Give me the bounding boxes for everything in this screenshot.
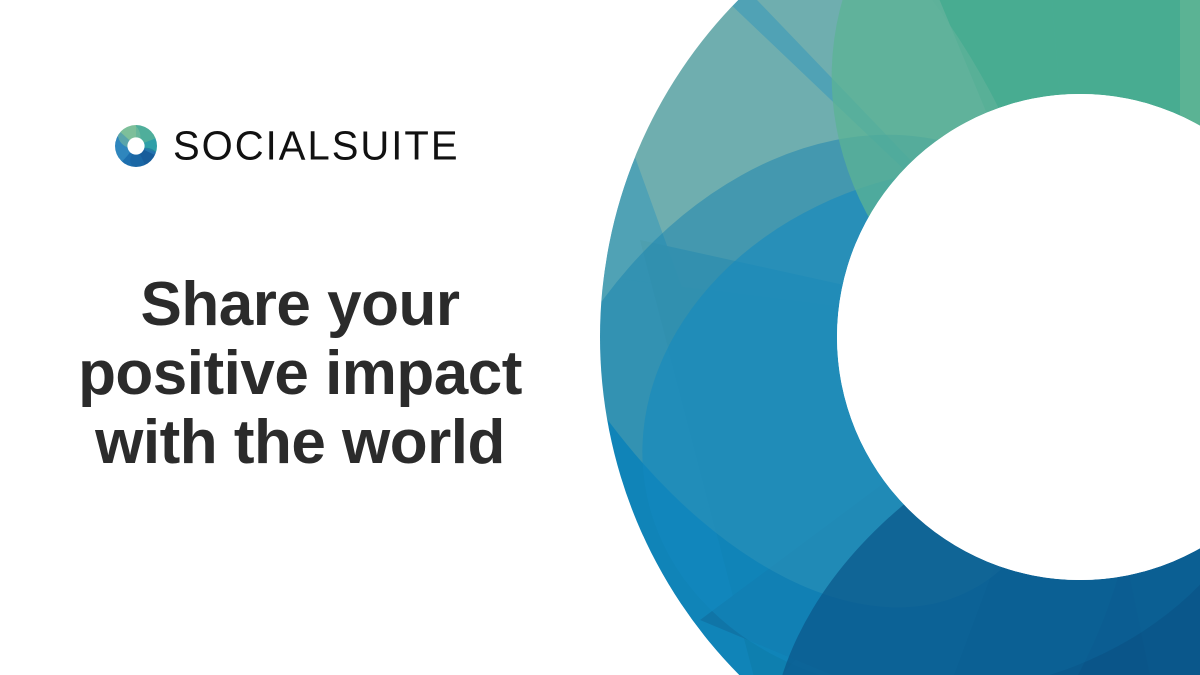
slide-canvas: SOCIALSUITE Share your positive impact w… [0, 0, 1200, 675]
headline-line-3: with the world [0, 408, 600, 477]
ring-base [600, 0, 1200, 675]
ring-donut-icon [113, 123, 159, 169]
headline-line-1: Share your [0, 270, 600, 339]
brand-lockup: SOCIALSUITE [113, 123, 460, 169]
page-title: Share your positive impact with the worl… [0, 270, 600, 478]
ring-segment-muted-teal [600, 0, 1080, 337]
ring-overlay-bright-blue-blade [593, 109, 1200, 675]
ring-segment-steel-blue [700, 337, 1200, 675]
ring-overlay-green-blade [767, 0, 1200, 461]
headline-line-2: positive impact [0, 339, 600, 408]
ring-segment-dark-navy [1080, 337, 1200, 675]
ring-segment-mid-blue [640, 240, 1080, 675]
ring-segment-bright-teal [760, 0, 1080, 337]
brand-wordmark: SOCIALSUITE [173, 125, 460, 166]
ring-inner-hole [837, 94, 1200, 580]
content-column: SOCIALSUITE Share your positive impact w… [0, 0, 600, 675]
ring-segment-green [1080, 0, 1200, 337]
ring-overlay-navy-blade [688, 275, 1200, 675]
ring-segment-bright-blue [590, 275, 1080, 560]
ring-segment-deep-navy [900, 337, 1200, 675]
ring-segment-muted-teal-2 [620, 0, 1080, 337]
ring-segment-bright-teal-2 [1040, 0, 1180, 337]
